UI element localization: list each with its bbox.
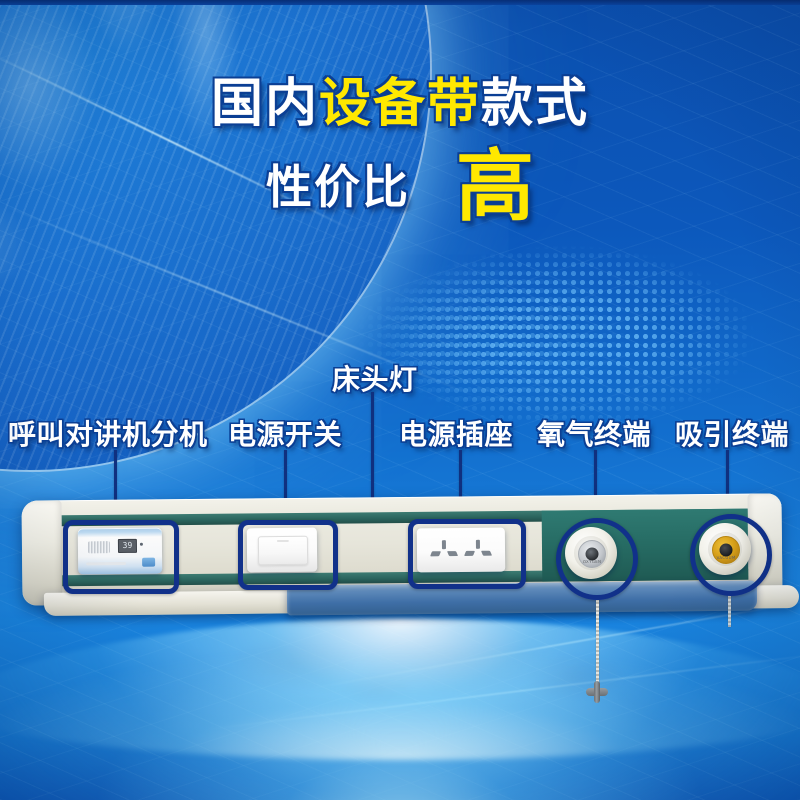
top-edge-bar xyxy=(0,0,800,5)
suction-pull-cord[interactable] xyxy=(728,595,731,627)
callout-label-suction: 吸引终端 xyxy=(675,413,789,453)
callout-label-oxygen: 氧气终端 xyxy=(537,413,651,453)
horizon-glow-highlight xyxy=(0,640,800,760)
highlight-circle-oxygen xyxy=(556,518,638,600)
callout-label-intercom: 呼叫对讲机分机 xyxy=(8,413,208,453)
highlight-circle-suction xyxy=(690,514,772,596)
oxygen-pull-cord[interactable] xyxy=(596,600,599,690)
callout-label-power-switch: 电源开关 xyxy=(228,413,342,453)
handle-stem xyxy=(594,681,600,703)
poster-canvas: 国内设备带款式 性价比 高 呼叫对讲机分机 电源开关 床头灯 电源插座 氧气终端… xyxy=(0,0,800,800)
highlight-box-intercom xyxy=(63,520,179,594)
panel-left-end-cap xyxy=(22,500,63,605)
callout-label-bed-lamp: 床头灯 xyxy=(332,358,418,398)
callout-label-power-socket: 电源插座 xyxy=(399,413,513,453)
pull-cord-handle[interactable] xyxy=(586,681,608,703)
highlight-box-power-socket xyxy=(408,519,526,589)
highlight-box-power-switch xyxy=(238,520,338,590)
